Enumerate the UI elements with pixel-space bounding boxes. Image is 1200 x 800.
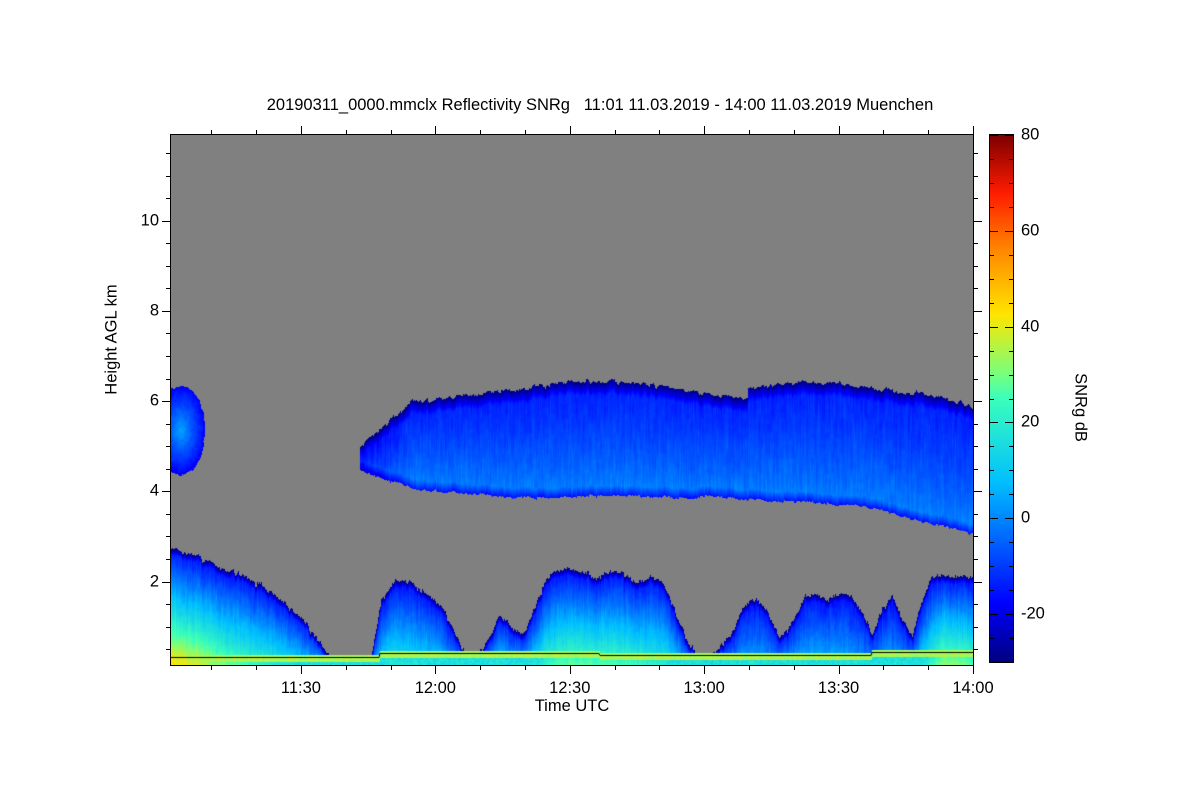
axis-tick [256,665,257,670]
axis-tick [435,126,436,135]
x-tick-label: 13:30 [818,679,859,698]
axis-tick [990,375,994,376]
axis-tick [990,159,994,160]
axis-tick [990,135,998,136]
x-axis-label: Time UTC [171,697,973,716]
axis-tick [480,665,481,670]
axis-tick [990,614,998,615]
x-tick-label: 13:00 [684,679,725,698]
colorbar-tick-label: 80 [1021,126,1039,145]
colorbar-tick-label: 40 [1021,317,1039,336]
axis-tick [162,311,171,312]
axis-tick [749,665,750,670]
axis-tick [990,590,994,591]
axis-tick [166,424,171,425]
axis-tick [1009,303,1013,304]
axis-tick [973,379,978,380]
axis-tick [166,198,171,199]
axis-tick [990,542,994,543]
axis-tick [973,649,978,650]
x-tick-label: 11:30 [281,679,321,698]
axis-tick [346,665,347,670]
x-tick-label: 12:00 [415,679,456,698]
axis-tick [973,176,978,177]
axis-tick [749,130,750,135]
axis-tick [570,126,571,135]
axis-tick [973,582,982,583]
axis-tick [990,566,994,567]
axis-tick [1005,135,1013,136]
axis-tick [990,446,994,447]
axis-tick [794,130,795,135]
reflectivity-heatmap [171,135,973,665]
axis-tick [1009,351,1013,352]
x-tick-label: 14:00 [952,679,993,698]
axis-tick [1009,255,1013,256]
axis-tick [990,518,998,519]
axis-tick [1009,446,1013,447]
colorbar-tick-label: 20 [1021,413,1039,432]
axis-tick [973,424,978,425]
axis-tick [1009,375,1013,376]
axis-tick [928,665,929,670]
axis-tick [973,627,978,628]
y-axis-label: Height AGL km [103,220,122,460]
axis-tick [166,176,171,177]
axis-tick [1005,422,1013,423]
axis-tick [1005,231,1013,232]
axis-tick [973,604,978,605]
axis-tick [794,665,795,670]
axis-tick [525,130,526,135]
axis-tick [839,126,840,135]
axis-tick [1009,662,1013,663]
axis-tick [162,401,171,402]
axis-tick [1005,614,1013,615]
axis-tick [990,207,994,208]
axis-tick [1009,159,1013,160]
axis-tick [1009,638,1013,639]
axis-tick [435,665,436,674]
axis-tick [659,130,660,135]
axis-tick [973,559,978,560]
axis-tick [973,198,978,199]
axis-tick [973,401,982,402]
axis-tick [973,469,978,470]
axis-tick [166,356,171,357]
axis-tick [570,665,571,674]
axis-tick [346,130,347,135]
axis-tick [1009,279,1013,280]
axis-tick [973,491,982,492]
axis-tick [1005,327,1013,328]
axis-tick [990,231,998,232]
axis-tick [704,126,705,135]
axis-tick [1009,470,1013,471]
axis-tick [990,399,994,400]
colorbar-tick-label: 0 [1021,509,1030,528]
figure-canvas-root: 20190311_0000.mmclx Reflectivity SNRg 11… [0,0,1200,800]
axis-tick [166,333,171,334]
axis-tick [659,665,660,670]
axis-tick [1009,207,1013,208]
axis-tick [162,491,171,492]
axis-tick [166,288,171,289]
axis-tick [1009,590,1013,591]
axis-tick [301,665,302,674]
axis-tick [1009,542,1013,543]
axis-tick [166,514,171,515]
axis-tick [973,536,978,537]
y-tick-label: 2 [119,572,159,591]
page-title: 20190311_0000.mmclx Reflectivity SNRg 11… [0,96,1200,115]
axis-tick [301,126,302,135]
axis-tick [973,221,982,222]
axis-tick [1009,566,1013,567]
axis-tick [990,255,994,256]
axis-tick [166,559,171,560]
axis-tick [990,470,994,471]
axis-tick [973,266,978,267]
axis-tick [973,153,978,154]
axis-tick [973,126,974,135]
axis-tick [990,327,998,328]
axis-tick [883,665,884,670]
axis-tick [166,627,171,628]
axis-tick [166,379,171,380]
axis-tick [211,130,212,135]
y-tick-label: 4 [119,482,159,501]
colorbar-tick-label: 60 [1021,221,1039,240]
axis-tick [615,130,616,135]
axis-tick [973,356,978,357]
axis-tick [525,665,526,670]
axis-tick [973,665,974,674]
axis-tick [990,183,994,184]
x-tick-label: 12:30 [549,679,590,698]
axis-tick [973,243,978,244]
axis-tick [973,311,982,312]
axis-tick [166,536,171,537]
axis-tick [391,130,392,135]
axis-tick [990,662,994,663]
axis-tick [615,665,616,670]
axis-tick [990,494,994,495]
axis-tick [990,279,994,280]
axis-tick [1009,183,1013,184]
axis-tick [166,243,171,244]
y-tick-label: 6 [119,392,159,411]
colorbar-label: SNRg dB [1071,288,1090,528]
axis-tick [1009,494,1013,495]
axis-tick [704,665,705,674]
axis-tick [928,130,929,135]
axis-tick [973,446,978,447]
axis-tick [990,351,994,352]
axis-tick [166,604,171,605]
axis-tick [973,333,978,334]
axis-tick [973,514,978,515]
axis-tick [391,665,392,670]
axis-tick [480,130,481,135]
axis-tick [973,288,978,289]
axis-tick [990,303,994,304]
axis-tick [883,130,884,135]
axis-tick [162,582,171,583]
axis-tick [1005,518,1013,519]
y-tick-label: 8 [119,301,159,320]
axis-tick [990,422,998,423]
axis-tick [166,446,171,447]
axis-tick [162,221,171,222]
axis-tick [839,665,840,674]
axis-tick [256,130,257,135]
axis-tick [211,665,212,670]
axis-tick [166,153,171,154]
y-tick-label: 10 [119,211,159,230]
axis-tick [166,469,171,470]
axis-tick [1009,399,1013,400]
axis-tick [166,266,171,267]
colorbar-tick-label: -20 [1021,605,1045,624]
axis-tick [990,638,994,639]
axis-tick [166,649,171,650]
